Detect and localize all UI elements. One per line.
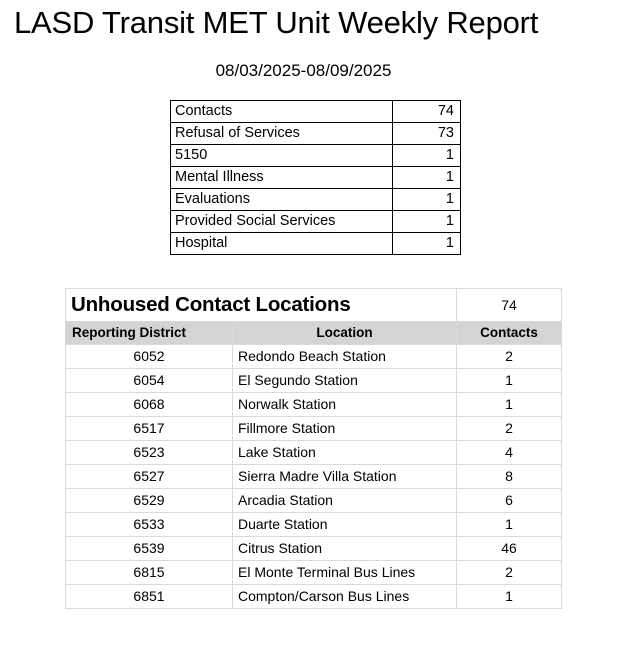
cell-location: Sierra Madre Villa Station bbox=[233, 465, 457, 489]
cell-reporting-district: 6851 bbox=[66, 585, 233, 609]
table-row: Provided Social Services 1 bbox=[171, 211, 461, 233]
table-row: Evaluations 1 bbox=[171, 189, 461, 211]
cell-location: Lake Station bbox=[233, 441, 457, 465]
table-row: Refusal of Services 73 bbox=[171, 123, 461, 145]
cell-reporting-district: 6539 bbox=[66, 537, 233, 561]
summary-label: Contacts bbox=[171, 101, 393, 123]
locations-table-title: Unhoused Contact Locations bbox=[66, 289, 457, 322]
column-header-contacts: Contacts bbox=[457, 322, 562, 345]
cell-contacts: 4 bbox=[457, 441, 562, 465]
cell-location: El Monte Terminal Bus Lines bbox=[233, 561, 457, 585]
locations-title-row: Unhoused Contact Locations 74 bbox=[66, 289, 562, 322]
cell-reporting-district: 6054 bbox=[66, 369, 233, 393]
table-row: 6533 Duarte Station 1 bbox=[66, 513, 562, 537]
table-row: 6523 Lake Station 4 bbox=[66, 441, 562, 465]
table-row: Mental Illness 1 bbox=[171, 167, 461, 189]
cell-location: El Segundo Station bbox=[233, 369, 457, 393]
summary-statistics-table: Contacts 74 Refusal of Services 73 5150 … bbox=[170, 100, 461, 255]
summary-label: 5150 bbox=[171, 145, 393, 167]
cell-reporting-district: 6517 bbox=[66, 417, 233, 441]
summary-value: 73 bbox=[393, 123, 461, 145]
summary-value: 1 bbox=[393, 167, 461, 189]
summary-label: Mental Illness bbox=[171, 167, 393, 189]
cell-reporting-district: 6068 bbox=[66, 393, 233, 417]
cell-reporting-district: 6533 bbox=[66, 513, 233, 537]
table-row: 6815 El Monte Terminal Bus Lines 2 bbox=[66, 561, 562, 585]
summary-value: 1 bbox=[393, 233, 461, 255]
summary-label: Evaluations bbox=[171, 189, 393, 211]
table-row: 5150 1 bbox=[171, 145, 461, 167]
table-row: 6527 Sierra Madre Villa Station 8 bbox=[66, 465, 562, 489]
cell-reporting-district: 6052 bbox=[66, 345, 233, 369]
cell-location: Fillmore Station bbox=[233, 417, 457, 441]
cell-contacts: 8 bbox=[457, 465, 562, 489]
page-title: LASD Transit MET Unit Weekly Report bbox=[14, 4, 538, 42]
summary-value: 1 bbox=[393, 189, 461, 211]
summary-value: 1 bbox=[393, 145, 461, 167]
cell-location: Redondo Beach Station bbox=[233, 345, 457, 369]
table-row: Contacts 74 bbox=[171, 101, 461, 123]
cell-reporting-district: 6815 bbox=[66, 561, 233, 585]
cell-reporting-district: 6523 bbox=[66, 441, 233, 465]
summary-value: 1 bbox=[393, 211, 461, 233]
locations-total-contacts: 74 bbox=[457, 289, 562, 322]
summary-value: 74 bbox=[393, 101, 461, 123]
cell-contacts: 2 bbox=[457, 417, 562, 441]
table-row: 6517 Fillmore Station 2 bbox=[66, 417, 562, 441]
locations-header-row: Reporting District Location Contacts bbox=[66, 322, 562, 345]
cell-reporting-district: 6527 bbox=[66, 465, 233, 489]
table-row: 6539 Citrus Station 46 bbox=[66, 537, 562, 561]
cell-contacts: 2 bbox=[457, 561, 562, 585]
table-row: 6851 Compton/Carson Bus Lines 1 bbox=[66, 585, 562, 609]
cell-contacts: 46 bbox=[457, 537, 562, 561]
cell-location: Citrus Station bbox=[233, 537, 457, 561]
summary-label: Hospital bbox=[171, 233, 393, 255]
table-row: 6052 Redondo Beach Station 2 bbox=[66, 345, 562, 369]
summary-label: Provided Social Services bbox=[171, 211, 393, 233]
cell-contacts: 1 bbox=[457, 369, 562, 393]
column-header-location: Location bbox=[233, 322, 457, 345]
table-row: 6068 Norwalk Station 1 bbox=[66, 393, 562, 417]
table-row: 6054 El Segundo Station 1 bbox=[66, 369, 562, 393]
cell-contacts: 2 bbox=[457, 345, 562, 369]
report-date-range: 08/03/2025-08/09/2025 bbox=[0, 60, 607, 82]
cell-reporting-district: 6529 bbox=[66, 489, 233, 513]
locations-table-body: Unhoused Contact Locations 74 Reporting … bbox=[66, 289, 562, 609]
cell-location: Compton/Carson Bus Lines bbox=[233, 585, 457, 609]
cell-location: Duarte Station bbox=[233, 513, 457, 537]
cell-contacts: 1 bbox=[457, 393, 562, 417]
cell-contacts: 1 bbox=[457, 585, 562, 609]
summary-table-body: Contacts 74 Refusal of Services 73 5150 … bbox=[171, 101, 461, 255]
cell-location: Norwalk Station bbox=[233, 393, 457, 417]
table-row: 6529 Arcadia Station 6 bbox=[66, 489, 562, 513]
cell-location: Arcadia Station bbox=[233, 489, 457, 513]
unhoused-contact-locations-table: Unhoused Contact Locations 74 Reporting … bbox=[65, 288, 562, 609]
summary-label: Refusal of Services bbox=[171, 123, 393, 145]
cell-contacts: 6 bbox=[457, 489, 562, 513]
column-header-reporting-district: Reporting District bbox=[66, 322, 233, 345]
cell-contacts: 1 bbox=[457, 513, 562, 537]
table-row: Hospital 1 bbox=[171, 233, 461, 255]
